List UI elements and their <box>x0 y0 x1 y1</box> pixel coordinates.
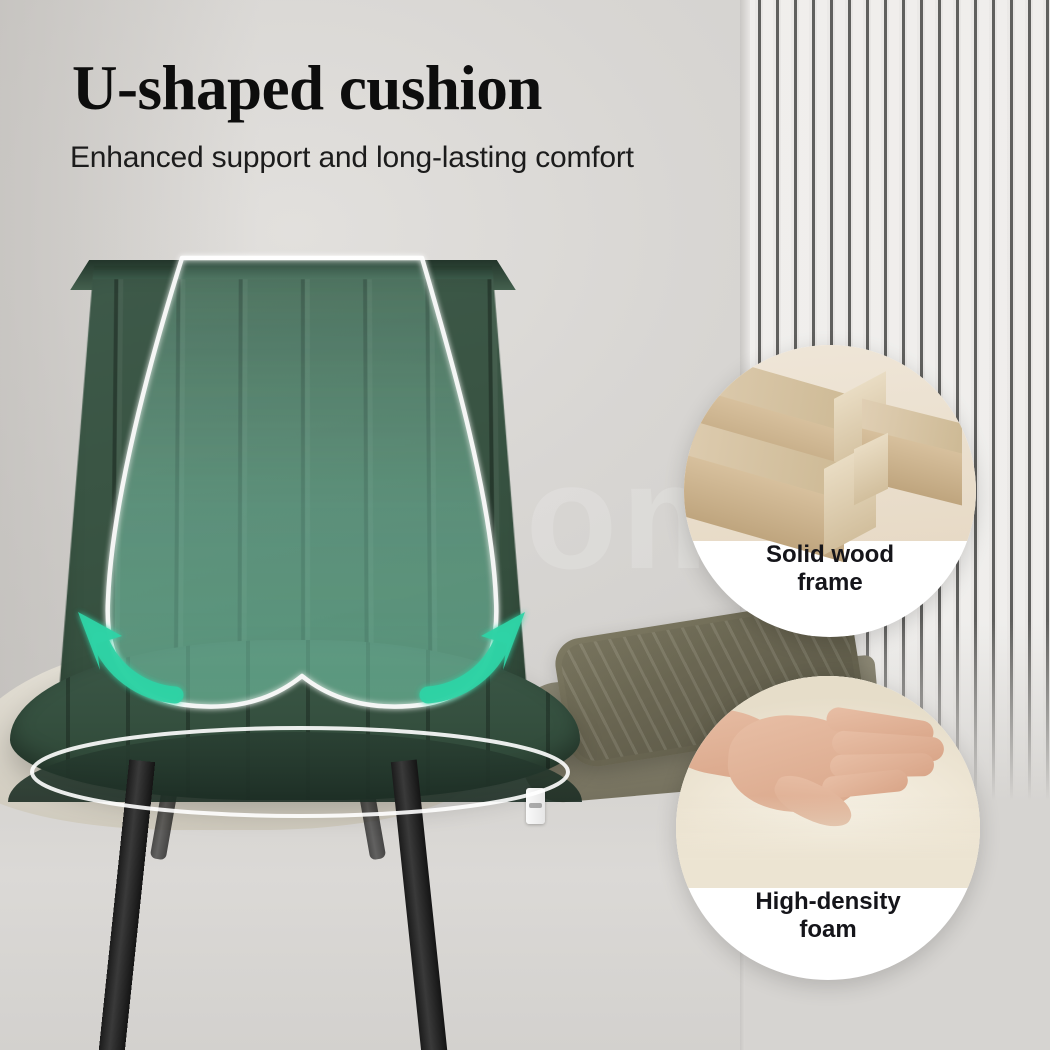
callout-label-line2: frame <box>684 569 976 597</box>
page-title: U-shaped cushion <box>72 57 542 120</box>
callout-label-high-density-foam: High-density foam <box>676 888 980 945</box>
callout-label-solid-wood-frame: Solid wood frame <box>684 541 976 598</box>
hand-pressing-foam-photo <box>676 676 980 886</box>
callout-high-density-foam: High-density foam <box>676 676 980 980</box>
foam-depression-shadow <box>676 796 980 888</box>
product-feature-banner: U-shaped cushion Enhanced support and lo… <box>0 0 1050 1050</box>
callout-solid-wood-frame: Solid wood frame <box>684 345 976 637</box>
chair-photo <box>0 240 620 1050</box>
page-subtitle: Enhanced support and long-lasting comfor… <box>70 140 634 176</box>
wood-blocks-photo <box>684 345 976 541</box>
callout-label-line1: High-density <box>676 888 980 916</box>
fabric-tag <box>526 788 545 824</box>
callout-label-line1: Solid wood <box>684 541 976 569</box>
callout-label-line2: foam <box>676 916 980 944</box>
chair-leg-front-right <box>391 760 451 1050</box>
